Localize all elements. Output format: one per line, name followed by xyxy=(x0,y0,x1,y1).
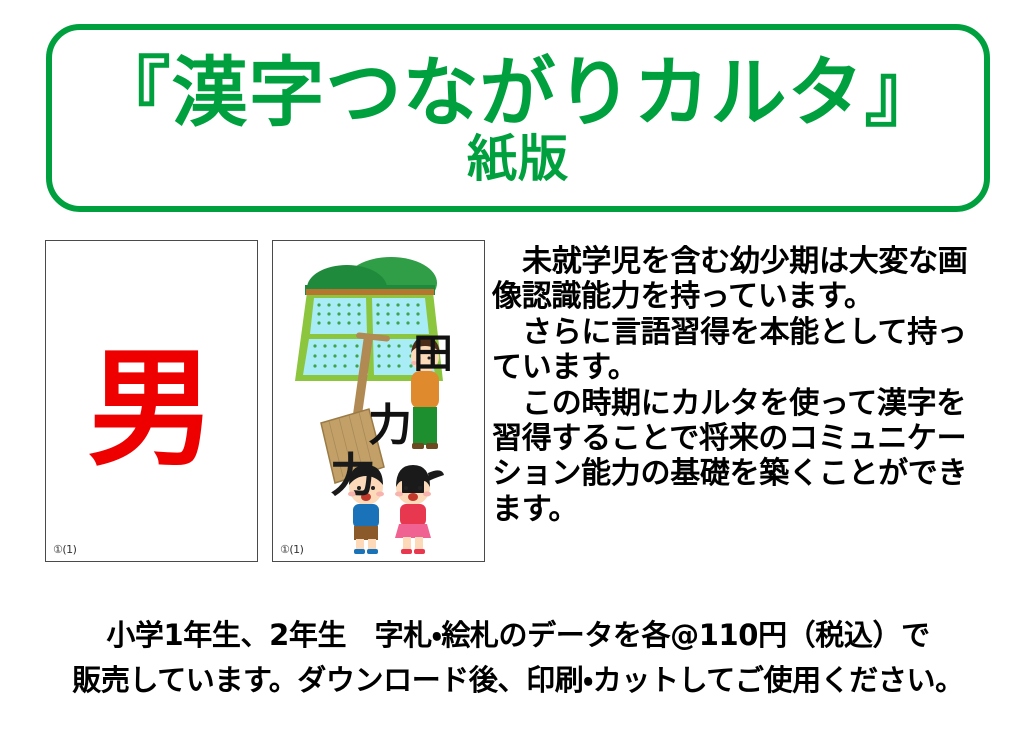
picture-card[interactable]: 田 力 力 ①(1) xyxy=(272,240,485,562)
kanji-card[interactable]: 男 ①(1) xyxy=(45,240,258,562)
overlay-kanji-ta: 田 xyxy=(413,321,453,379)
overlay-kanji-chikara-on-spade: 力 xyxy=(330,439,376,505)
kanji-glyph-otoko: 男 xyxy=(46,241,257,561)
page-title: 『漢字つながりカルタ』 xyxy=(95,56,942,130)
description-paragraph-1: 未就学児を含む幼少期は大変な画像認識能力を持っています。 xyxy=(492,244,992,315)
card-corner-label: ①(1) xyxy=(53,543,76,556)
girl-icon xyxy=(395,465,444,554)
footer-line-2: 販売しています。ダウンロード後、印刷・カットしてご使用ください。 xyxy=(48,658,988,703)
description-text: 未就学児を含む幼少期は大変な画像認識能力を持っています。 さらに言語習得を本能と… xyxy=(492,244,992,527)
description-paragraph-2: さらに言語習得を本能として持っています。 xyxy=(492,315,992,386)
footer-text: 小学1年生、2年生 字札・絵札のデータを各@110円（税込）で 販売しています。… xyxy=(48,613,988,703)
card-corner-label: ①(1) xyxy=(280,543,303,556)
footer-line-1: 小学1年生、2年生 字札・絵札のデータを各@110円（税込）で xyxy=(48,613,988,658)
description-paragraph-3: この時期にカルタを使って漢字を習得することで将来のコミュニケーション能力の基礎を… xyxy=(492,386,992,528)
title-banner: 『漢字つながりカルタ』 紙版 xyxy=(46,24,990,212)
page-subtitle: 紙版 xyxy=(467,134,569,184)
